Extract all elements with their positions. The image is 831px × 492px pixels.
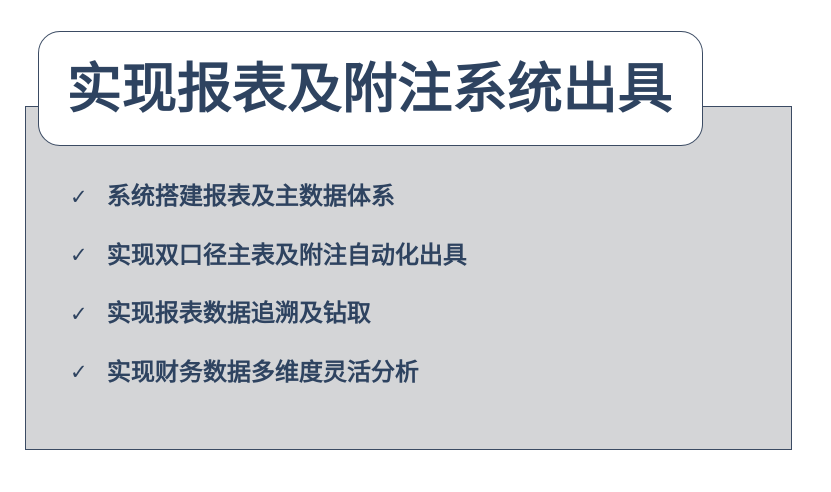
list-item-label: 系统搭建报表及主数据体系 xyxy=(107,185,395,209)
list-item-label: 实现财务数据多维度灵活分析 xyxy=(107,361,419,385)
list-item: ✓ 实现财务数据多维度灵活分析 xyxy=(70,344,467,403)
page-title: 实现报表及附注系统出具 xyxy=(67,62,673,116)
title-card: 实现报表及附注系统出具 xyxy=(38,31,703,146)
list-item-label: 实现双口径主表及附注自动化出具 xyxy=(107,244,467,268)
check-icon: ✓ xyxy=(70,245,107,266)
slide-canvas: 实现报表及附注系统出具 ✓ 系统搭建报表及主数据体系 ✓ 实现双口径主表及附注自… xyxy=(0,0,831,492)
bullet-list: ✓ 系统搭建报表及主数据体系 ✓ 实现双口径主表及附注自动化出具 ✓ 实现报表数… xyxy=(70,168,467,402)
list-item: ✓ 系统搭建报表及主数据体系 xyxy=(70,168,467,227)
list-item: ✓ 实现双口径主表及附注自动化出具 xyxy=(70,227,467,286)
check-icon: ✓ xyxy=(70,187,107,208)
list-item-label: 实现报表数据追溯及钻取 xyxy=(107,302,371,326)
list-item: ✓ 实现报表数据追溯及钻取 xyxy=(70,285,467,344)
check-icon: ✓ xyxy=(70,304,107,325)
check-icon: ✓ xyxy=(70,362,107,383)
